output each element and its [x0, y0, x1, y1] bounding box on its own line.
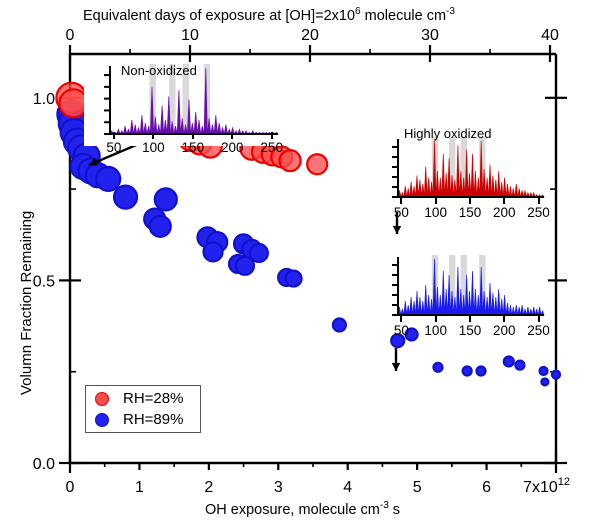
data-point — [114, 186, 137, 209]
legend-label-rh89: RH=89% — [123, 411, 183, 428]
data-point — [307, 154, 327, 174]
spectrum-x-tick — [435, 315, 437, 322]
spectrum-trace — [398, 141, 544, 197]
spectrum-x-tick-label: 50 — [106, 140, 121, 155]
data-point — [504, 356, 514, 366]
legend-label-rh28: RH=28% — [123, 390, 183, 407]
inset-non-oxidized-title: Non-oxidized — [121, 63, 197, 78]
spectrum-x-tick-label: 200 — [221, 140, 244, 155]
legend-marker-rh28 — [95, 392, 109, 406]
y-tick-label: 0.5 — [33, 273, 55, 290]
y-tick-label: 0.0 — [33, 456, 55, 473]
inset-highly-oxidized-blue — [372, 253, 548, 327]
data-point — [236, 257, 254, 275]
bottom-axis-title-exp: -3 — [380, 500, 389, 511]
spectrum-x-tick-label: 100 — [424, 323, 447, 338]
data-point — [552, 371, 560, 379]
inset-blue-xaxis: 50100150200250 — [372, 323, 548, 347]
spectrum-x-tick — [538, 197, 540, 204]
data-point — [333, 318, 346, 331]
data-point — [463, 366, 472, 375]
arrow-to-blue-oxidized-head — [392, 363, 400, 371]
x-tick-label: 3 — [274, 479, 283, 496]
x-tick-label: 6 — [482, 479, 491, 496]
spectrum-trace — [398, 259, 544, 315]
spectrum-x-tick — [113, 132, 115, 139]
spectrum-x-tick — [538, 315, 540, 322]
spectrum-x-tick — [400, 197, 402, 204]
spectrum-x-tick-label: 50 — [394, 205, 409, 220]
legend-item-rh28[interactable]: RH=28% — [86, 388, 200, 409]
bottom-axis-title-part-b: s — [389, 502, 400, 518]
spectrum-x-tick — [271, 132, 273, 139]
spectrum-x-tick — [503, 197, 505, 204]
top-x-tick-label: 10 — [181, 27, 199, 44]
inset-red-xaxis: 50100150200250 — [372, 205, 548, 229]
spectrum-x-tick — [435, 197, 437, 204]
data-point — [150, 216, 171, 237]
legend-item-rh89[interactable]: RH=89% — [86, 409, 200, 430]
data-point — [541, 378, 548, 385]
inset-highly-oxidized-title: Highly oxidized — [404, 126, 491, 141]
spectrum-x-tick-label: 250 — [260, 140, 283, 155]
spectrum-x-tick — [231, 132, 233, 139]
x-tick-label: 5 — [413, 479, 422, 496]
data-point — [204, 242, 223, 261]
inset-highly-oxidized-red — [372, 135, 548, 209]
spectrum-x-tick-label: 150 — [459, 323, 482, 338]
data-point — [96, 167, 120, 191]
spectrum-x-tick — [469, 197, 471, 204]
x-tick-label: 4 — [343, 479, 352, 496]
spectrum-x-tick-label: 100 — [142, 140, 165, 155]
spectrum-x-tick-label: 50 — [394, 323, 409, 338]
spectrum-x-tick-label: 100 — [424, 205, 447, 220]
data-point — [155, 188, 177, 210]
spectrum-x-tick — [400, 315, 402, 322]
bottom-axis-title-part-a: OH exposure, molecule cm — [205, 502, 380, 518]
spectrum-x-tick — [469, 315, 471, 322]
inset-non-oxidized-xaxis: 50100150200250 — [84, 140, 282, 164]
bottom-axis-title: OH exposure, molecule cm-3 s — [205, 500, 400, 518]
y-axis-label: Volumn Fraction Remaining — [18, 211, 35, 395]
data-point — [477, 366, 486, 375]
y-tick-label: 1.0 — [33, 91, 55, 108]
inset-red-svg — [372, 135, 548, 209]
spectrum-x-tick — [192, 132, 194, 139]
x-tick-label: 7x1012 — [523, 476, 570, 496]
inset-blue-svg — [372, 253, 548, 327]
data-point — [515, 361, 524, 370]
spectrum-x-tick-label: 200 — [493, 323, 516, 338]
x-tick-label: 1 — [135, 479, 144, 496]
spectrum-x-tick-label: 250 — [527, 205, 550, 220]
x-tick-label: 2 — [204, 479, 213, 496]
top-x-tick-label: 40 — [541, 27, 559, 44]
x-tick-label: 0 — [66, 479, 75, 496]
top-x-tick-label: 30 — [421, 27, 439, 44]
spectrum-x-tick-label: 150 — [459, 205, 482, 220]
data-point — [286, 271, 302, 287]
data-point — [540, 367, 548, 375]
top-x-tick-label: 0 — [66, 27, 75, 44]
spectrum-x-tick-label: 250 — [527, 323, 550, 338]
legend-marker-rh89 — [95, 413, 109, 427]
legend: RH=28% RH=89% — [85, 385, 201, 433]
spectrum-x-tick-label: 150 — [182, 140, 205, 155]
spectrum-x-tick — [152, 132, 154, 139]
data-point — [433, 363, 442, 372]
spectrum-x-tick-label: 200 — [493, 205, 516, 220]
spectrum-x-tick — [503, 315, 505, 322]
x-tick-label-exp: 12 — [558, 476, 570, 488]
top-x-tick-label: 20 — [301, 27, 319, 44]
